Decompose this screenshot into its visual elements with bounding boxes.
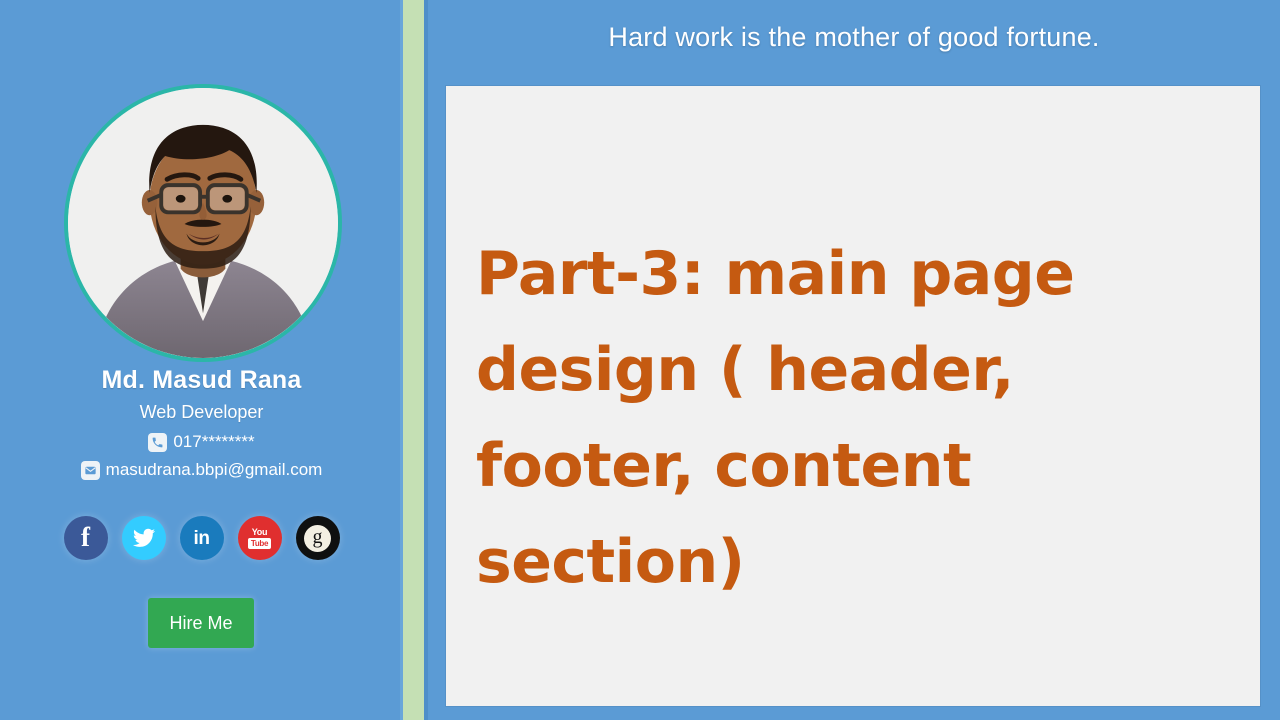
- goodreads-glyph: g: [313, 527, 323, 547]
- twitter-icon[interactable]: [122, 516, 166, 560]
- slide-canvas: Md. Masud Rana Web Developer 017********…: [0, 0, 1280, 720]
- facebook-glyph: f: [81, 524, 90, 551]
- contact-phone[interactable]: 017********: [0, 432, 403, 452]
- goodreads-icon[interactable]: g: [296, 516, 340, 560]
- profile-sidebar: Md. Masud Rana Web Developer 017********…: [0, 0, 403, 720]
- youtube-you-text: You: [252, 528, 267, 537]
- profile-name: Md. Masud Rana: [0, 366, 403, 395]
- email-icon: [81, 461, 100, 480]
- facebook-icon[interactable]: f: [64, 516, 108, 560]
- avatar: [64, 84, 342, 362]
- profile-role: Web Developer: [0, 402, 403, 423]
- linkedin-icon[interactable]: in: [180, 516, 224, 560]
- linkedin-glyph: in: [194, 529, 210, 548]
- quote-bar: Hard work is the mother of good fortune.: [428, 0, 1280, 74]
- phone-value: 017********: [173, 432, 254, 452]
- divider-green-strip: [403, 0, 424, 720]
- social-links: f in You Tube g: [0, 516, 403, 560]
- youtube-icon[interactable]: You Tube: [238, 516, 282, 560]
- youtube-tube-text: Tube: [248, 538, 271, 549]
- email-value: masudrana.bbpi@gmail.com: [106, 460, 323, 480]
- content-heading: Part-3: main page design ( header, foote…: [476, 226, 1248, 610]
- hire-me-button[interactable]: Hire Me: [148, 598, 254, 648]
- goodreads-inner-circle: g: [304, 525, 331, 552]
- content-panel: Hard work is the mother of good fortune.…: [428, 0, 1280, 720]
- quote-text: Hard work is the mother of good fortune.: [608, 22, 1099, 53]
- profile-photo: [68, 88, 338, 358]
- twitter-bird-glyph: [132, 526, 156, 550]
- youtube-glyph: You Tube: [248, 528, 271, 549]
- contact-email[interactable]: masudrana.bbpi@gmail.com: [0, 460, 403, 480]
- content-box: Part-3: main page design ( header, foote…: [446, 86, 1260, 706]
- phone-icon: [148, 433, 167, 452]
